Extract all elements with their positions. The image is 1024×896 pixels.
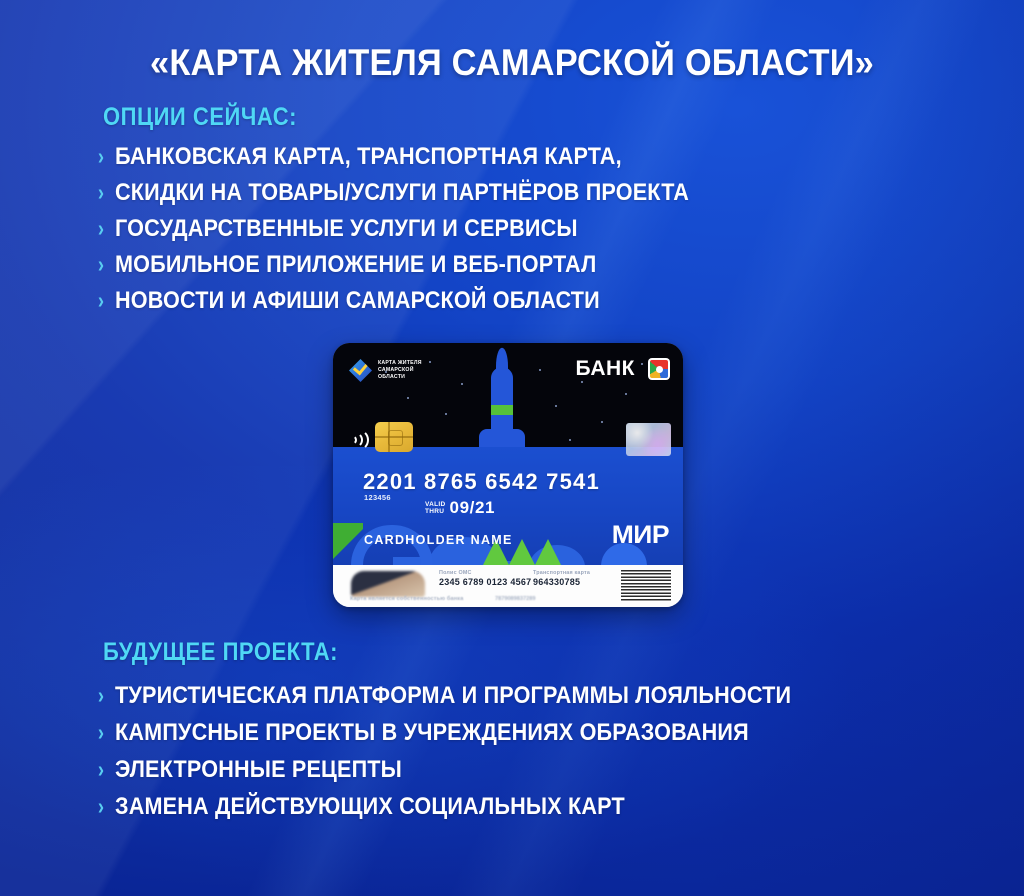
list-item: › БАНКОВСКАЯ КАРТА, ТРАНСПОРТНАЯ КАРТА,: [96, 143, 753, 179]
page-title: «КАРТА ЖИТЕЛЯ САМАРСКОЙ ОБЛАСТИ»: [36, 42, 988, 84]
bank-logo-icon: [648, 358, 670, 380]
chevron-right-icon: ›: [98, 217, 113, 240]
list-item-label: БАНКОВСКАЯ КАРТА, ТРАНСПОРТНАЯ КАРТА,: [115, 143, 622, 171]
options-now-list: › БАНКОВСКАЯ КАРТА, ТРАНСПОРТНАЯ КАРТА, …: [96, 143, 753, 323]
green-corner-graphic: [333, 523, 363, 559]
transport-block: Транспортная карта 964330785: [533, 570, 590, 587]
emv-chip-icon: [375, 422, 413, 452]
chevron-right-icon: ›: [98, 758, 113, 781]
valid-thru-block: VALID THRU 09/21: [425, 498, 495, 518]
bank-card: КАРТА ЖИТЕЛЯ САМАРСКОЙ ОБЛАСТИ БАНК 2201…: [333, 343, 683, 607]
card-front-artwork: КАРТА ЖИТЕЛЯ САМАРСКОЙ ОБЛАСТИ БАНК 2201…: [333, 343, 683, 565]
tree-icon: [535, 539, 561, 565]
list-item-label: ЗАМЕНА ДЕЙСТВУЮЩИХ СОЦИАЛЬНЫХ КАРТ: [115, 793, 625, 821]
hologram-icon: [626, 423, 671, 456]
card-fineprint: Карта является собственностью банка: [350, 596, 463, 602]
chevron-right-icon: ›: [98, 181, 113, 204]
list-item: › ЭЛЕКТРОННЫЕ РЕЦЕПТЫ: [96, 756, 866, 793]
rocket-band-graphic: [491, 405, 513, 415]
tree-icon: [509, 539, 535, 565]
list-item: › ГОСУДАРСТВЕННЫЕ УСЛУГИ И СЕРВИСЫ: [96, 215, 753, 251]
barcode-icon: [621, 570, 671, 602]
valid-thru-label: VALID THRU: [425, 501, 446, 516]
poster-root: «КАРТА ЖИТЕЛЯ САМАРСКОЙ ОБЛАСТИ» ОПЦИИ С…: [0, 0, 1024, 896]
card-number-sub: 123456: [364, 493, 391, 502]
list-item-label: ГОСУДАРСТВЕННЫЕ УСЛУГИ И СЕРВИСЫ: [115, 215, 578, 243]
list-item-label: ЭЛЕКТРОННЫЕ РЕЦЕПТЫ: [115, 756, 402, 784]
list-item-label: СКИДКИ НА ТОВАРЫ/УСЛУГИ ПАРТНЁРОВ ПРОЕКТ…: [115, 179, 689, 207]
omc-label: Полис ОМС: [439, 570, 531, 576]
omc-block: Полис ОМС 2345 6789 0123 4567: [439, 570, 531, 587]
cardholder-name: CARDHOLDER NAME: [364, 533, 513, 547]
list-item: › ЗАМЕНА ДЕЙСТВУЮЩИХ СОЦИАЛЬНЫХ КАРТ: [96, 793, 866, 830]
future-list: › ТУРИСТИЧЕСКАЯ ПЛАТФОРМА И ПРОГРАММЫ ЛО…: [96, 682, 866, 830]
list-item: › ТУРИСТИЧЕСКАЯ ПЛАТФОРМА И ПРОГРАММЫ ЛО…: [96, 682, 866, 719]
chevron-right-icon: ›: [98, 253, 113, 276]
list-item-label: МОБИЛЬНОЕ ПРИЛОЖЕНИЕ И ВЕБ-ПОРТАЛ: [115, 251, 596, 279]
checkmark-icon: [353, 360, 368, 376]
card-fineprint-number: 7879089837289: [495, 596, 535, 602]
card-brand-label: КАРТА ЖИТЕЛЯ САМАРСКОЙ ОБЛАСТИ: [378, 360, 422, 381]
chevron-right-icon: ›: [98, 721, 113, 744]
transport-value: 964330785: [533, 577, 590, 587]
list-item: › СКИДКИ НА ТОВАРЫ/УСЛУГИ ПАРТНЁРОВ ПРОЕ…: [96, 179, 753, 215]
list-item-label: НОВОСТИ И АФИШИ САМАРСКОЙ ОБЛАСТИ: [115, 287, 600, 315]
list-item: › МОБИЛЬНОЕ ПРИЛОЖЕНИЕ И ВЕБ-ПОРТАЛ: [96, 251, 753, 287]
list-item: › КАМПУСНЫЕ ПРОЕКТЫ В УЧРЕЖДЕНИЯХ ОБРАЗО…: [96, 719, 866, 756]
bank-label: БАНК: [576, 357, 635, 381]
list-item-label: КАМПУСНЫЕ ПРОЕКТЫ В УЧРЕЖДЕНИЯХ ОБРАЗОВА…: [115, 719, 749, 747]
valid-thru-value: 09/21: [450, 498, 496, 518]
section-heading-future: БУДУЩЕЕ ПРОЕКТА:: [103, 638, 338, 667]
card-body: КАРТА ЖИТЕЛЯ САМАРСКОЙ ОБЛАСТИ БАНК 2201…: [333, 343, 683, 607]
mir-payment-logo: МИР: [612, 521, 669, 550]
section-heading-now: ОПЦИИ СЕЙЧАС:: [103, 103, 297, 132]
list-item-label: ТУРИСТИЧЕСКАЯ ПЛАТФОРМА И ПРОГРАММЫ ЛОЯЛ…: [115, 682, 791, 710]
transport-label: Транспортная карта: [533, 570, 590, 576]
chevron-right-icon: ›: [98, 795, 113, 818]
card-bottom-strip: Полис ОМС 2345 6789 0123 4567 Транспортн…: [333, 565, 683, 607]
chevron-right-icon: ›: [98, 145, 113, 168]
chevron-right-icon: ›: [98, 289, 113, 312]
card-number: 2201 8765 6542 7541: [363, 469, 600, 495]
omc-value: 2345 6789 0123 4567: [439, 577, 531, 587]
cardholder-photo: [351, 571, 425, 597]
chevron-right-icon: ›: [98, 684, 113, 707]
card-brand-logo: КАРТА ЖИТЕЛЯ САМАРСКОЙ ОБЛАСТИ: [349, 359, 422, 382]
samara-diamond-icon: [349, 359, 372, 382]
contactless-icon: [347, 427, 365, 449]
list-item: › НОВОСТИ И АФИШИ САМАРСКОЙ ОБЛАСТИ: [96, 287, 753, 323]
